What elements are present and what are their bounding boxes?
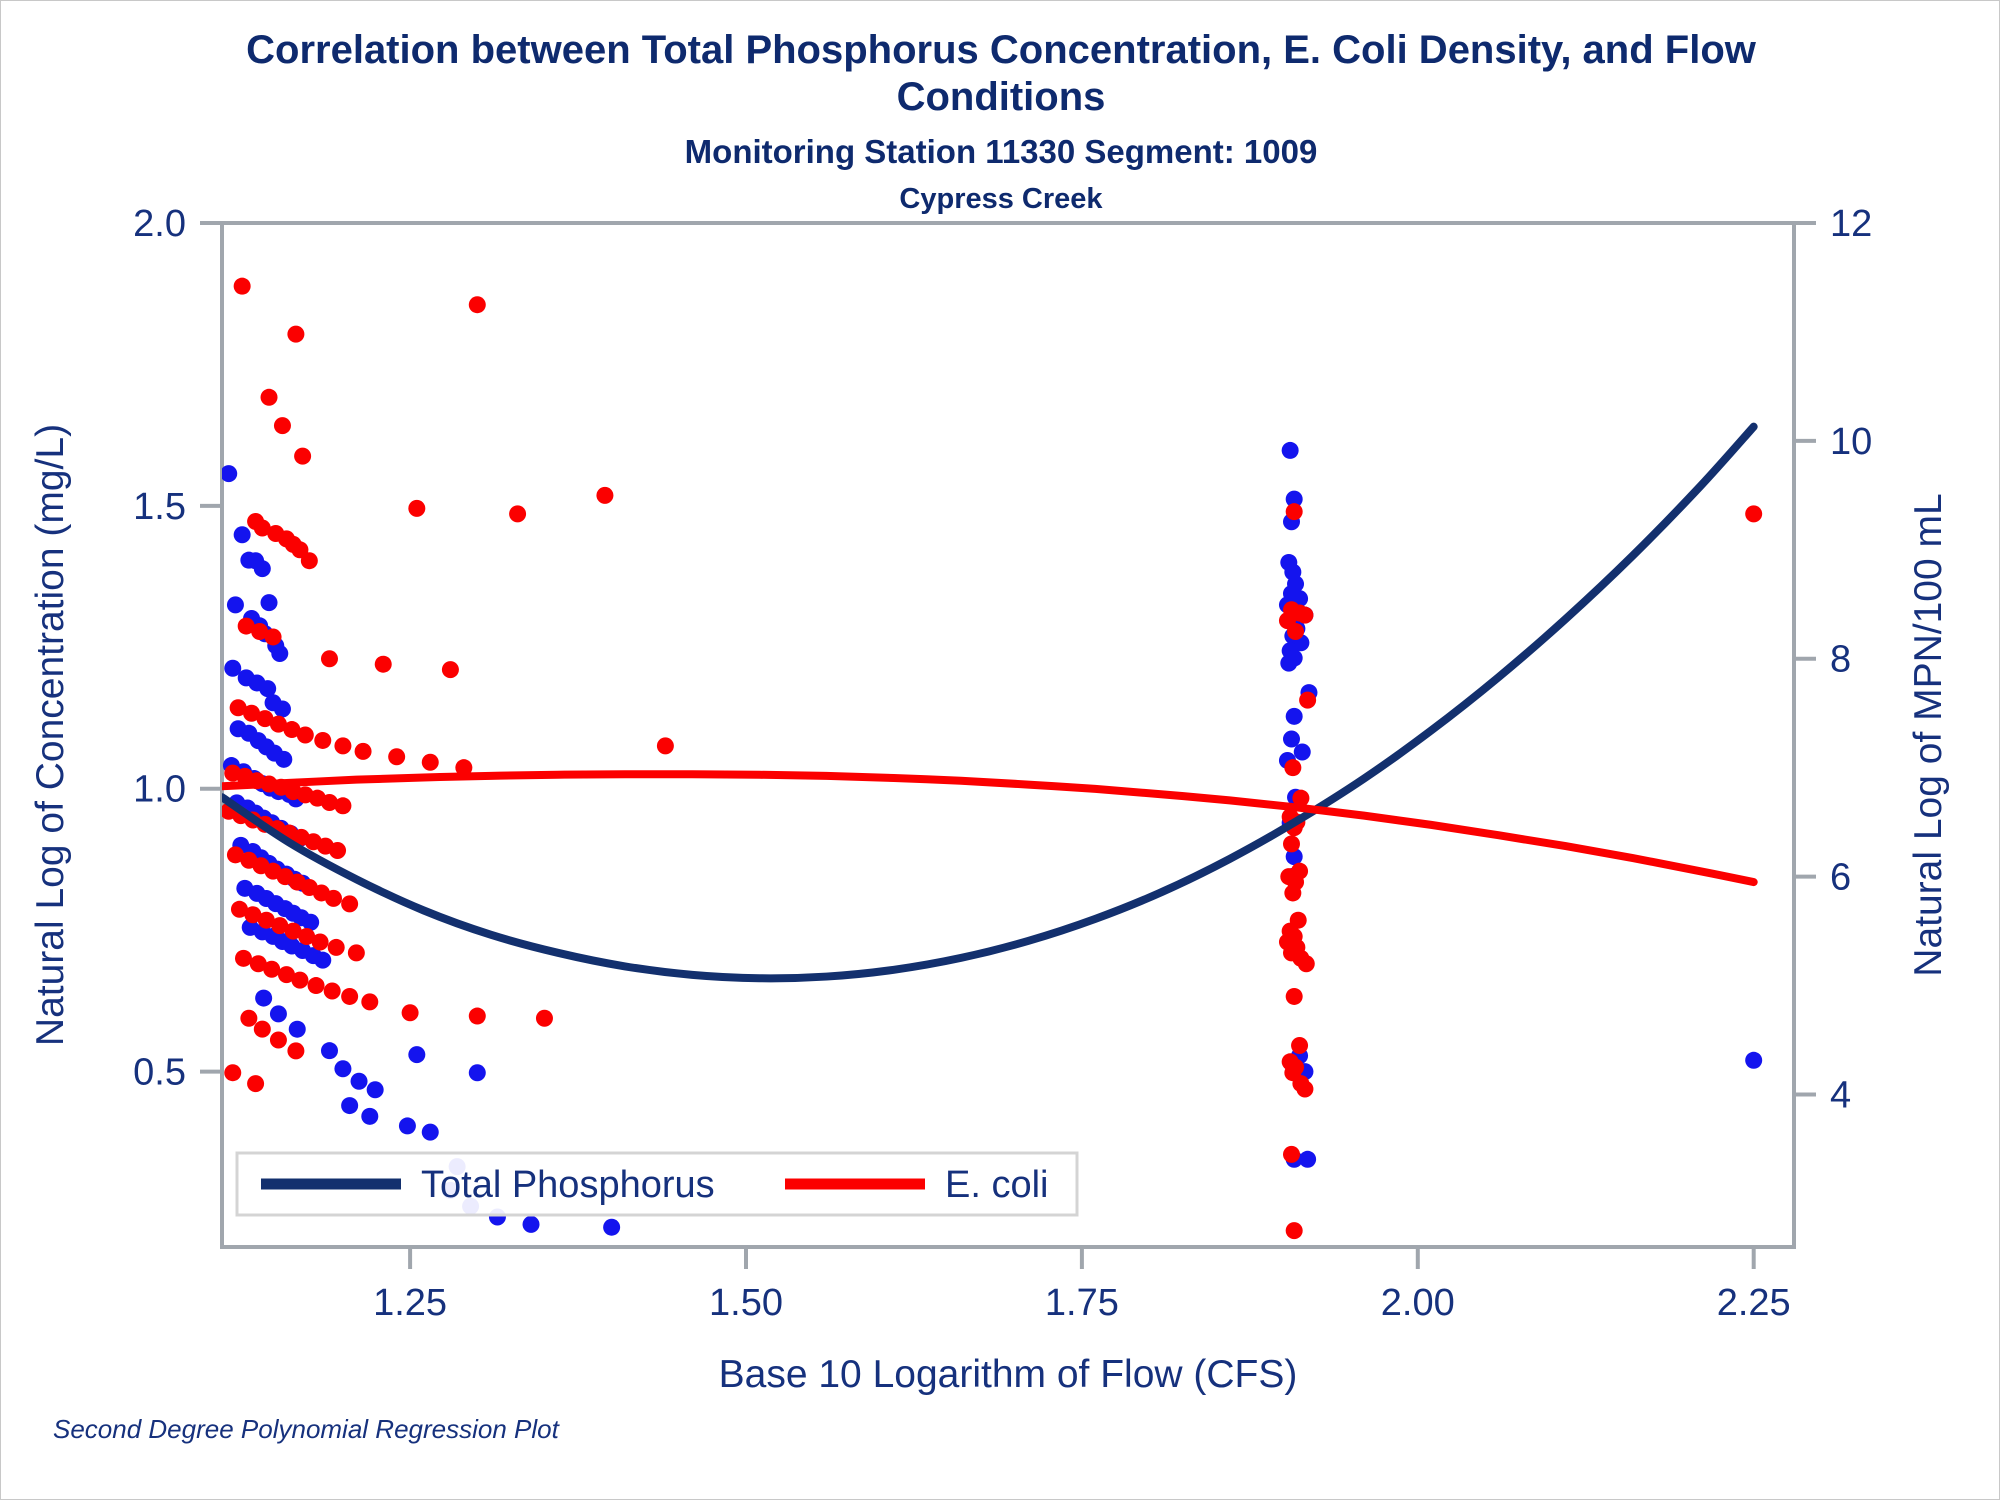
scatter-point	[261, 389, 278, 406]
scatter-point	[235, 950, 252, 967]
scatter-point	[341, 988, 358, 1005]
scatter-point	[1284, 759, 1301, 776]
scatter-point	[1745, 1052, 1762, 1069]
scatter-point	[536, 1010, 553, 1027]
scatter-point	[312, 933, 329, 950]
x-axis-tick-label: 2.00	[1381, 1282, 1455, 1324]
scatter-point	[240, 1010, 257, 1027]
scatter-point	[294, 448, 311, 465]
scatter-point	[367, 1081, 384, 1098]
scatter-point	[1296, 607, 1313, 624]
plot-frame	[222, 223, 1794, 1247]
scatter-point	[388, 748, 405, 765]
scatter-point	[375, 656, 392, 673]
y-axis-tick-label: 1.0	[133, 769, 186, 811]
scatter-point	[314, 952, 331, 969]
scatter-point	[1283, 1146, 1300, 1163]
scatter-point	[1287, 623, 1304, 640]
scatter-point	[361, 1108, 378, 1125]
scatter-point	[442, 661, 459, 678]
scatter-point	[1299, 1151, 1316, 1168]
scatter-point	[254, 560, 271, 577]
scatter-point	[355, 743, 372, 760]
scatter-point	[657, 737, 674, 754]
scatter-point	[321, 1042, 338, 1059]
scatter-point	[341, 895, 358, 912]
scatter-point	[324, 983, 341, 1000]
x-axis: 1.251.501.752.002.25Base 10 Logarithm of…	[373, 1247, 1791, 1396]
scatter-point	[422, 1124, 439, 1141]
scatter-point	[1286, 708, 1303, 725]
scatter-point	[523, 1216, 540, 1233]
y2-axis-tick-label: 10	[1830, 421, 1872, 463]
x-axis-tick-label: 1.50	[709, 1282, 783, 1324]
x-axis-tick-label: 2.25	[1717, 1282, 1791, 1324]
scatter-point	[247, 1075, 264, 1092]
scatter-point	[329, 842, 346, 859]
y2-axis-tick-label: 4	[1830, 1074, 1851, 1116]
figure-page: Correlation between Total Phosphorus Con…	[0, 0, 2000, 1500]
scatter-point	[220, 465, 237, 482]
scatter-point	[1280, 655, 1297, 672]
scatter-point	[261, 594, 278, 611]
scatter-point	[1745, 505, 1762, 522]
scatter-point	[325, 890, 342, 907]
scatter-point	[291, 972, 308, 989]
scatter-point	[263, 961, 280, 978]
scatter-point	[289, 1021, 306, 1038]
scatter-point	[255, 990, 272, 1007]
scatter-point	[334, 1060, 351, 1077]
scatter-series-e-coli	[220, 278, 1762, 1239]
scatter-point	[287, 1042, 304, 1059]
scatter-point	[408, 500, 425, 517]
scatter-point	[469, 1064, 486, 1081]
legend-label-total-phosphorus: Total Phosphorus	[421, 1164, 715, 1206]
y2-axis-tick-label: 12	[1830, 203, 1872, 245]
scatter-point	[1286, 503, 1303, 520]
scatter-point	[351, 1073, 368, 1090]
scatter-point	[603, 1219, 620, 1236]
scatter-point	[1298, 955, 1315, 972]
scatter-point	[328, 939, 345, 956]
scatter-point	[274, 700, 291, 717]
scatter-point	[1286, 1222, 1303, 1239]
scatter-point	[402, 1004, 419, 1021]
scatter-point	[1284, 884, 1301, 901]
regression-curve-e-coli	[222, 774, 1754, 882]
scatter-point	[227, 596, 244, 613]
y2-axis-tick-label: 8	[1830, 639, 1851, 681]
x-axis-tick-label: 1.75	[1045, 1282, 1119, 1324]
scatter-point	[224, 1064, 241, 1081]
scatter-point	[308, 977, 325, 994]
scatter-point	[361, 993, 378, 1010]
scatter-point	[265, 628, 282, 645]
scatter-point	[1299, 692, 1316, 709]
scatter-point	[408, 1046, 425, 1063]
scatter-point	[1286, 988, 1303, 1005]
regression-curve-total-phosphorus	[222, 427, 1754, 979]
y-axis-right: 4681012Natural Log of MPN/100 mL	[1794, 203, 1950, 1116]
scatter-point	[254, 1021, 271, 1038]
scatter-point	[297, 727, 314, 744]
scatter-point	[1296, 1081, 1313, 1098]
scatter-point	[270, 1032, 287, 1049]
scatter-point	[275, 751, 292, 768]
scatter-point	[334, 797, 351, 814]
scatter-point	[348, 944, 365, 961]
scatter-point	[469, 296, 486, 313]
plot-group: 0.51.01.52.0Natural Log of Concentration…	[29, 203, 1950, 1396]
scatter-point	[1291, 1037, 1308, 1054]
scatter-point	[422, 754, 439, 771]
data-layer	[220, 278, 1762, 1239]
y-axis-tick-label: 2.0	[133, 203, 186, 245]
scatter-point	[596, 487, 613, 504]
scatter-point	[509, 505, 526, 522]
scatter-point	[1283, 835, 1300, 852]
scatter-point	[469, 1008, 486, 1025]
scatter-point	[341, 1097, 358, 1114]
legend-label-e-coli: E. coli	[945, 1164, 1048, 1206]
scatter-point	[334, 737, 351, 754]
scatter-point	[274, 417, 291, 434]
y-axis-tick-label: 1.5	[133, 486, 186, 528]
chart-canvas: 0.51.01.52.0Natural Log of Concentration…	[1, 1, 2000, 1501]
scatter-point	[270, 1005, 287, 1022]
y-axis-title-left: Natural Log of Concentration (mg/L)	[29, 424, 72, 1046]
scatter-point	[234, 278, 251, 295]
scatter-point	[287, 326, 304, 343]
scatter-point	[1294, 743, 1311, 760]
scatter-point	[271, 645, 288, 662]
scatter-point	[301, 552, 318, 569]
scatter-point	[302, 914, 319, 931]
y-axis-title-right: Natural Log of MPN/100 mL	[1907, 493, 1950, 976]
scatter-point	[1283, 730, 1300, 747]
scatter-point	[1282, 442, 1299, 459]
footnote: Second Degree Polynomial Regression Plot	[53, 1414, 559, 1445]
scatter-point	[321, 650, 338, 667]
legend: Total PhosphorusE. coli	[237, 1153, 1077, 1215]
scatter-point	[234, 526, 251, 543]
x-axis-title: Base 10 Logarithm of Flow (CFS)	[719, 1353, 1298, 1396]
x-axis-tick-label: 1.25	[373, 1282, 447, 1324]
scatter-point	[314, 732, 331, 749]
y-axis-tick-label: 0.5	[133, 1052, 186, 1094]
y2-axis-tick-label: 6	[1830, 857, 1851, 899]
y-axis-left: 0.51.01.52.0Natural Log of Concentration…	[29, 203, 222, 1094]
scatter-point	[399, 1117, 416, 1134]
